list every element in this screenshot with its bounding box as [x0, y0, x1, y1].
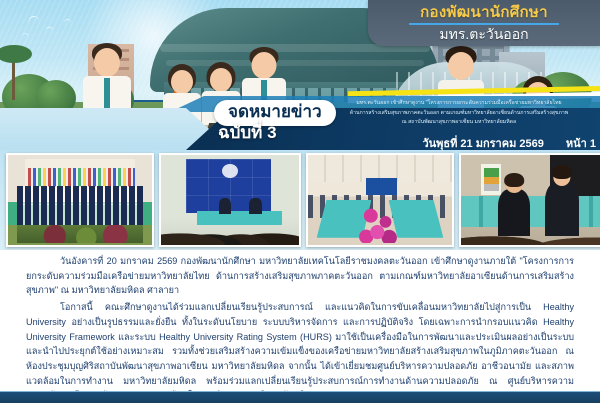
foreground-plants	[17, 225, 144, 243]
speaker-figure	[219, 198, 231, 214]
people-row-back	[17, 186, 144, 206]
paragraph-2-text: โอกาสนี้ คณะศึกษาดูงานได้ร่วมแลกเปลี่ยนเ…	[26, 302, 574, 400]
stage-backdrop	[366, 178, 398, 194]
subtitle-line-3: ณ สถาบันพัฒนาสุขภาพอาเซียน มหาวิทยาลัยมห…	[320, 118, 598, 128]
teal-chairs	[461, 196, 600, 227]
photo-presentation-stage	[159, 153, 301, 247]
bird-icon	[63, 19, 71, 24]
head	[210, 68, 232, 92]
head	[252, 52, 277, 79]
footer-bar	[0, 392, 600, 403]
badge-divider	[409, 23, 559, 25]
head	[448, 52, 474, 80]
masthead-subtitle: มทร.ตะวันออก เข้าศึกษาดูงาน "โครงการการย…	[320, 99, 598, 128]
flag-row	[28, 168, 135, 188]
flower-arrangement	[357, 204, 403, 244]
article-paragraph-2: โอกาสนี้ คณะศึกษาดูงานได้ร่วมแลกเปลี่ยนเ…	[26, 300, 574, 403]
foreground-heads	[461, 225, 600, 245]
issue-number: ฉบับที่ 3	[218, 124, 277, 141]
article-body: วันอังคารที่ 20 มกราคม 2569 กองพัฒนานักศ…	[0, 250, 600, 392]
paragraph-1-text: วันอังคารที่ 20 มกราคม 2569 กองพัฒนานักศ…	[26, 256, 574, 295]
audience-heads	[161, 214, 299, 245]
subtitle-line-1: มทร.ตะวันออก เข้าศึกษาดูงาน "โครงการการย…	[320, 99, 598, 109]
subtitle-line-2: ด้านการสร้างเสริมสุขภาพภาคตะวันออก ตามเก…	[320, 109, 598, 119]
photo-strip	[0, 150, 600, 250]
photo-meeting-room	[306, 153, 454, 247]
photo-executives-seated	[459, 153, 600, 247]
newsletter-title: จดหมายข่าว	[228, 102, 322, 121]
university-abbreviation: มทร.ตะวันออก	[439, 27, 528, 41]
photo-group-ceremony	[6, 153, 154, 247]
department-name: กองพัฒนานักศึกษา	[420, 5, 548, 20]
people-row-front	[17, 204, 144, 226]
department-badge: กองพัฒนานักศึกษา มทร.ตะวันออก	[368, 0, 600, 46]
article-paragraph-1: วันอังคารที่ 20 มกราคม 2569 กองพัฒนานักศ…	[26, 254, 574, 298]
newsletter-page: กองพัฒนานักศึกษา มทร.ตะวันออก จดหมายข่าว…	[0, 0, 600, 403]
necktie	[104, 78, 110, 108]
head	[94, 48, 120, 77]
wall-poster	[481, 164, 501, 195]
head	[171, 70, 193, 94]
palm-tree-icon	[12, 54, 15, 100]
speaker-figure	[249, 198, 261, 214]
